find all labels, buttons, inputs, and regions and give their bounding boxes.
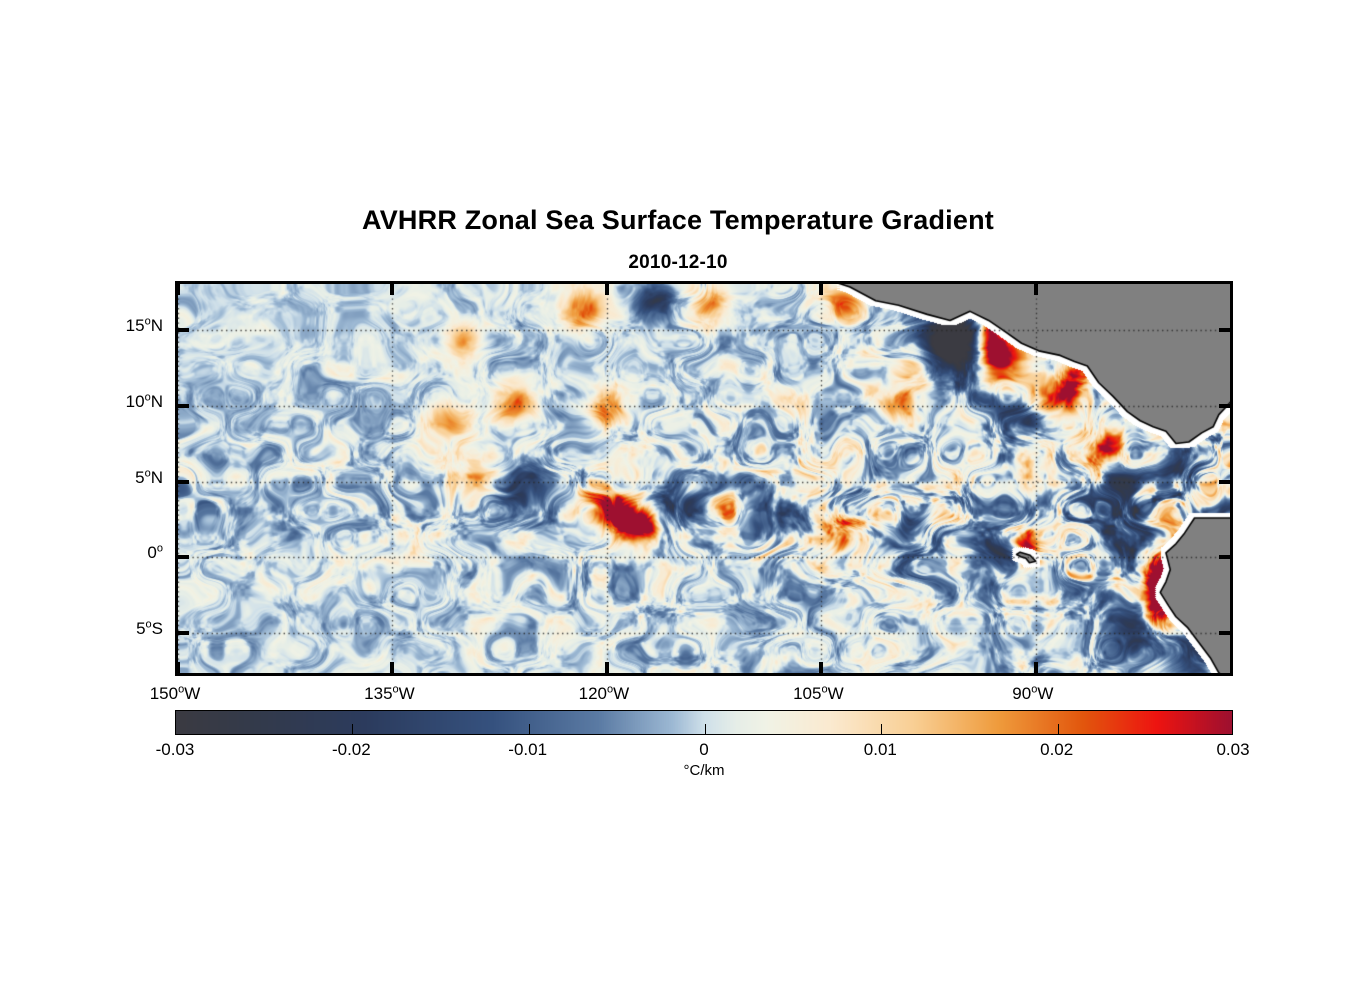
- x-axis-tick: [176, 662, 180, 673]
- colorbar-tick-label: 0.02: [992, 740, 1122, 760]
- colorbar: [175, 710, 1233, 735]
- y-axis-tick: [178, 328, 189, 332]
- sst-gradient-heatmap: [178, 284, 1233, 676]
- colorbar-tick: [529, 724, 530, 735]
- x-axis-tick-label: 90oW: [973, 684, 1093, 704]
- colorbar-tick-label: 0: [639, 740, 769, 760]
- x-axis-tick: [176, 284, 180, 295]
- y-axis-tick: [178, 480, 189, 484]
- y-axis-tick: [1219, 404, 1230, 408]
- x-axis-tick-label: 120oW: [544, 684, 664, 704]
- y-axis-tick-label: 5oS: [43, 619, 163, 639]
- colorbar-tick: [881, 724, 882, 735]
- figure-title: AVHRR Zonal Sea Surface Temperature Grad…: [0, 205, 1356, 236]
- y-axis-tick: [1219, 555, 1230, 559]
- map-axes: [175, 281, 1233, 676]
- x-axis-tick-label: 135oW: [329, 684, 449, 704]
- x-axis-tick-label: 105oW: [758, 684, 878, 704]
- x-axis-tick: [390, 662, 394, 673]
- colorbar-tick: [1058, 724, 1059, 735]
- colorbar-tick-label: -0.01: [463, 740, 593, 760]
- colorbar-tick-label: 0.01: [815, 740, 945, 760]
- colorbar-units-label: °C/km: [175, 762, 1233, 779]
- x-axis-tick: [819, 662, 823, 673]
- colorbar-tick: [352, 724, 353, 735]
- y-axis-tick-label: 10oN: [43, 392, 163, 412]
- colorbar-tick-label: -0.02: [286, 740, 416, 760]
- x-axis-tick-label: 150oW: [115, 684, 235, 704]
- y-axis-tick: [178, 555, 189, 559]
- x-axis-tick: [819, 284, 823, 295]
- y-axis-tick: [178, 631, 189, 635]
- colorbar-tick: [705, 724, 706, 735]
- colorbar-tick-label: -0.03: [110, 740, 240, 760]
- x-axis-tick: [1034, 284, 1038, 295]
- y-axis-tick: [1219, 631, 1230, 635]
- y-axis-tick-label: 15oN: [43, 316, 163, 336]
- x-axis-tick: [605, 284, 609, 295]
- y-axis-tick: [1219, 328, 1230, 332]
- figure-panel: AVHRR Zonal Sea Surface Temperature Grad…: [0, 0, 1356, 1000]
- colorbar-gradient: [176, 711, 1232, 734]
- x-axis-tick: [390, 284, 394, 295]
- y-axis-tick: [1219, 480, 1230, 484]
- figure-subtitle: 2010-12-10: [0, 252, 1356, 274]
- x-axis-tick: [1034, 662, 1038, 673]
- y-axis-tick-label: 5oN: [43, 468, 163, 488]
- x-axis-tick: [605, 662, 609, 673]
- y-axis-tick: [178, 404, 189, 408]
- y-axis-tick-label: 0o: [43, 543, 163, 563]
- colorbar-tick-label: 0.03: [1168, 740, 1298, 760]
